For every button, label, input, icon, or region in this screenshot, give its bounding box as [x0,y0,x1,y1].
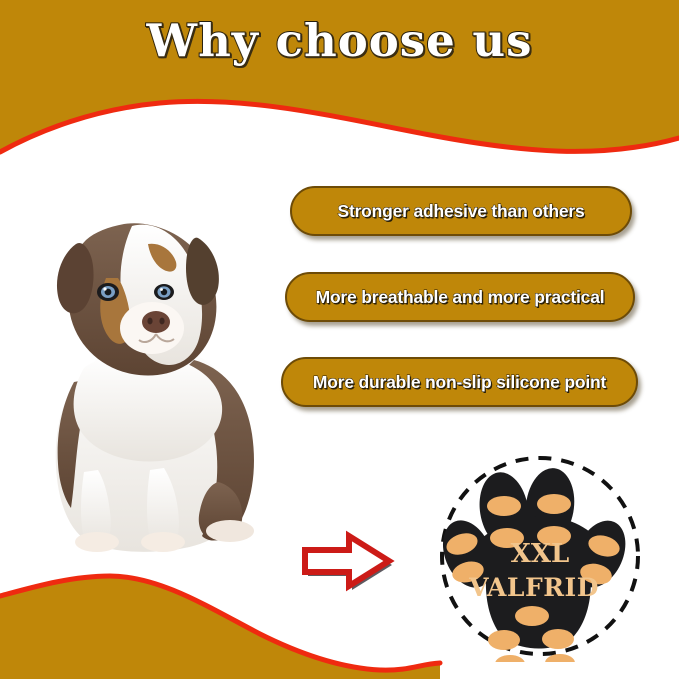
puppy-eye-right-glint [160,288,163,291]
puppy-front-paw-left [75,532,119,552]
infographic-canvas: Why choose us [0,0,679,679]
puppy-illustration [22,182,292,554]
footer-wave-shape [0,564,679,679]
footer-gold-fill [0,576,440,679]
feature-pill-1-label: Stronger adhesive than others [337,201,584,222]
puppy-hind-paw [206,520,254,542]
feature-pill-3-label: More durable non-slip silicone point [313,372,606,393]
page-title: Why choose us [0,14,679,67]
footer-wave [0,564,679,679]
feature-pill-2[interactable]: More breathable and more practical [285,272,635,322]
silicone-dot [537,494,571,514]
puppy-nose [142,311,170,333]
puppy-nostril-left [147,318,152,325]
silicone-dot [487,496,521,516]
puppy-eye-left-glint [103,287,106,290]
puppy-nostril-right [159,318,164,325]
puppy-photo [22,182,292,554]
feature-pill-3[interactable]: More durable non-slip silicone point [281,357,638,407]
header-banner: Why choose us [0,0,679,175]
puppy-front-paw-right [141,532,185,552]
feature-pill-1[interactable]: Stronger adhesive than others [290,186,632,236]
feature-pill-2-label: More breathable and more practical [316,287,605,308]
puppy-ear-right [186,238,219,305]
